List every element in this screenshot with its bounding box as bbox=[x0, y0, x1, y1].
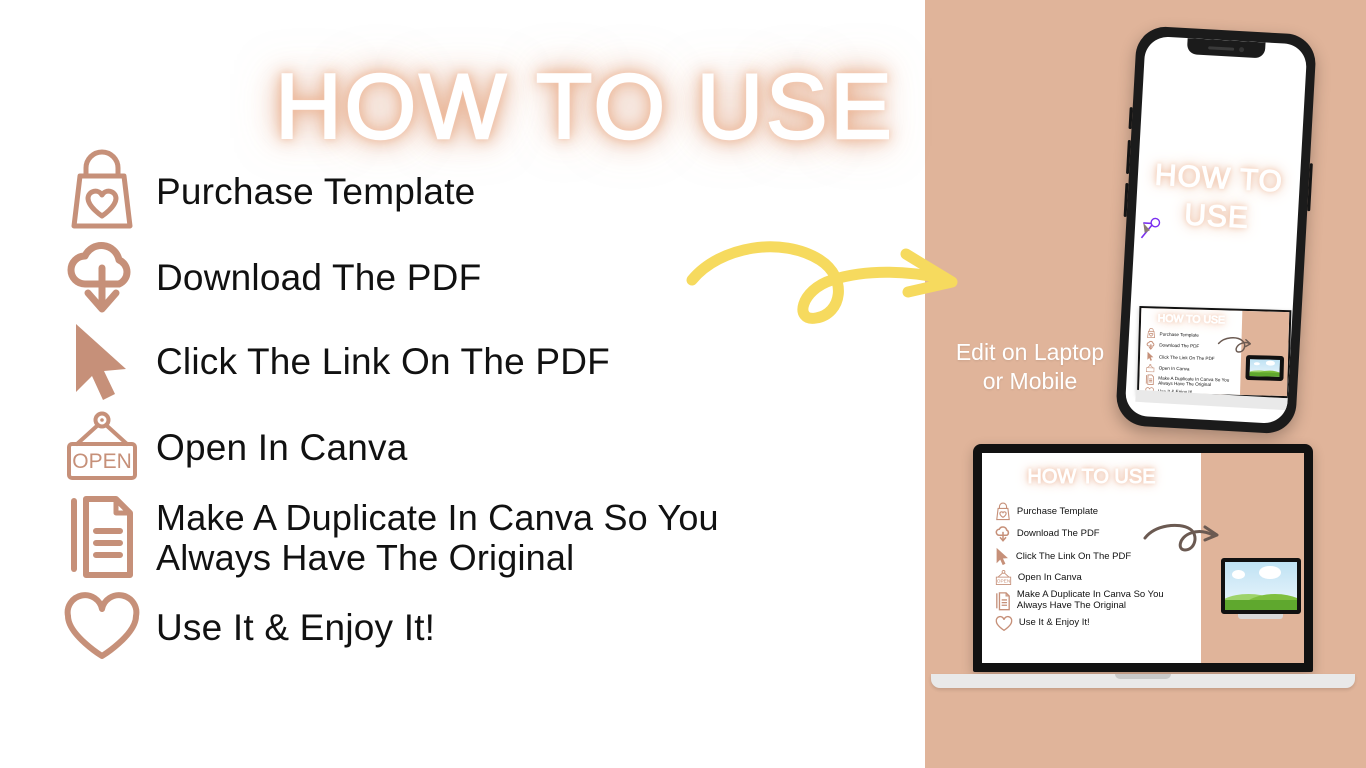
mini-list-item-label: Purchase Template bbox=[1017, 507, 1098, 518]
edit-on-device-caption: Edit on Laptop or Mobile bbox=[930, 338, 1130, 397]
mini-list-item-label: Download The PDF bbox=[1159, 343, 1199, 349]
laptop-base bbox=[931, 674, 1355, 688]
mini-list-item-label: Purchase Template bbox=[1160, 331, 1199, 337]
mini-curly-arrow-icon bbox=[1143, 522, 1221, 554]
phone-camera-icon bbox=[1239, 47, 1244, 52]
mini-list-item-label: Make A Duplicate In Canva So YouAlways H… bbox=[1158, 375, 1229, 387]
list-item-label: Download The PDF bbox=[156, 257, 481, 298]
shopping-bag-heart-icon bbox=[60, 150, 144, 234]
page-title: HOW TO USE bbox=[255, 52, 915, 162]
list-item-label: Make A Duplicate In Canva So You Always … bbox=[156, 498, 719, 579]
mini-list-item: Make A Duplicate In Canva So YouAlways H… bbox=[1145, 374, 1243, 388]
edit-caption-line2: or Mobile bbox=[930, 367, 1130, 396]
phone-mockup: HOW TO USE HOW TO USE bbox=[1115, 25, 1317, 434]
duplicate-document-icon bbox=[1145, 374, 1154, 385]
phone-screen: HOW TO USE HOW TO USE bbox=[1125, 36, 1308, 424]
mini-list-item: Make A Duplicate In Canva So YouAlways H… bbox=[995, 590, 1208, 611]
list-item: Purchase Template bbox=[60, 150, 920, 234]
mini-list-item-label: Download The PDF bbox=[1017, 529, 1100, 540]
mini-photo-frame bbox=[1221, 558, 1301, 614]
list-item-label: Click The Link On The PDF bbox=[156, 341, 610, 382]
mini-list-item-label: Use It & Enjoy It! bbox=[1019, 618, 1090, 629]
cloud-download-icon bbox=[60, 236, 144, 320]
mouse-cursor-icon bbox=[995, 547, 1010, 566]
mini-list-item-label: Open In Canva bbox=[1018, 573, 1082, 584]
phone-speaker-icon bbox=[1208, 46, 1234, 50]
open-sign-icon bbox=[1145, 363, 1154, 373]
shopping-bag-heart-icon bbox=[1146, 328, 1155, 338]
page-title-text: HOW TO USE bbox=[275, 55, 895, 160]
heart-outline-icon bbox=[995, 616, 1013, 632]
laptop-base-notch bbox=[1115, 674, 1171, 679]
cloud-download-icon bbox=[1146, 340, 1155, 350]
mini-photo-frame bbox=[1245, 355, 1284, 381]
mini-photo-stand bbox=[1238, 614, 1283, 619]
slide-canvas: HOW TO USE Purchase Template bbox=[0, 0, 1366, 768]
mouse-cursor-icon bbox=[1146, 351, 1155, 361]
list-item: Make A Duplicate In Canva So You Always … bbox=[60, 496, 920, 580]
shopping-bag-heart-icon bbox=[995, 503, 1011, 521]
cloud-download-icon bbox=[995, 525, 1011, 543]
mini-slide-title: HOW TO USE bbox=[982, 466, 1201, 489]
mini-list-item-label: Click The Link On The PDF bbox=[1016, 552, 1131, 563]
steps-list: Purchase Template Download The PDF Click… bbox=[60, 150, 920, 676]
list-item: OPEN Open In Canva bbox=[60, 406, 920, 490]
open-sign-icon: OPEN bbox=[60, 406, 144, 490]
list-item: Use It & Enjoy It! bbox=[60, 586, 920, 670]
mini-curly-arrow-icon bbox=[1217, 335, 1252, 356]
mini-slide: HOW TO USE Purchase Template bbox=[1139, 308, 1289, 396]
list-item-label-line1: Make A Duplicate In Canva So You bbox=[156, 498, 719, 538]
mini-list-item: Open In Canva bbox=[1145, 363, 1243, 376]
open-sign-text: OPEN bbox=[72, 450, 132, 473]
list-item-label: Purchase Template bbox=[156, 171, 475, 212]
list-item-label: Use It & Enjoy It! bbox=[156, 607, 435, 648]
duplicate-document-icon bbox=[995, 592, 1011, 611]
mouse-cursor-icon bbox=[60, 320, 144, 404]
list-item-label: Open In Canva bbox=[156, 427, 407, 468]
mini-list-item-label: Make A Duplicate In Canva So YouAlways H… bbox=[1017, 590, 1164, 611]
mini-list-item-label: Click The Link On The PDF bbox=[1159, 354, 1215, 361]
mini-list-item: OPEN Open In Canva bbox=[995, 570, 1208, 586]
mini-slide: HOW TO USE Purchase Template bbox=[982, 453, 1304, 663]
mini-list-item-label: Open In Canva bbox=[1159, 366, 1190, 372]
canva-selection-handle-icon[interactable] bbox=[1140, 214, 1167, 241]
list-item-label-line2: Always Have The Original bbox=[156, 538, 719, 578]
phone-notch bbox=[1187, 38, 1266, 58]
laptop-lid: HOW TO USE Purchase Template bbox=[973, 444, 1313, 672]
mini-list-item: Purchase Template bbox=[995, 503, 1208, 521]
laptop-screen: HOW TO USE Purchase Template bbox=[982, 453, 1304, 663]
edit-caption-line1: Edit on Laptop bbox=[930, 338, 1130, 367]
mini-landscape-photo bbox=[1221, 558, 1301, 614]
yellow-curly-arrow-icon bbox=[690, 238, 990, 338]
landscape-illustration bbox=[1225, 562, 1297, 610]
heart-outline-icon bbox=[60, 586, 144, 670]
duplicate-document-icon bbox=[60, 496, 144, 580]
landscape-illustration bbox=[1249, 359, 1279, 377]
mini-list-item: Use It & Enjoy It! bbox=[995, 616, 1208, 632]
open-sign-icon: OPEN bbox=[995, 570, 1012, 586]
svg-text:OPEN: OPEN bbox=[997, 579, 1011, 585]
mini-landscape-photo bbox=[1245, 355, 1284, 381]
laptop-mockup: HOW TO USE Purchase Template bbox=[963, 444, 1323, 694]
phone-nested-slide: HOW TO USE Purchase Template bbox=[1137, 306, 1291, 398]
